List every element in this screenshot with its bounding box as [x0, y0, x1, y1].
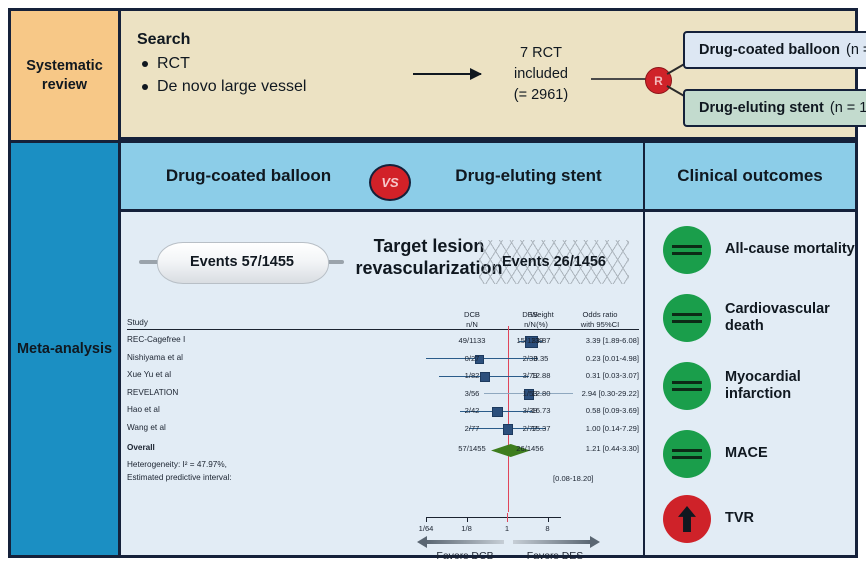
outcome-row: All-cause mortality [663, 226, 855, 274]
up-arrow-icon [663, 495, 711, 543]
clinical-outcomes-header: Clinical outcomes [645, 143, 855, 209]
randomization-line [591, 78, 651, 80]
right-arrow-icon [413, 73, 481, 75]
search-block: Search RCT De novo large vessel [137, 31, 402, 98]
overall-dcb-value: 57/1455 [447, 444, 497, 453]
col-header-des-l1: DES [507, 310, 553, 320]
figure-frame: Systematic review Search RCT De novo lar… [8, 8, 858, 558]
comparison-arms: Drug-coated balloon VS Drug-eluting sten… [121, 143, 645, 209]
axis-tick-label: 1 [505, 524, 509, 533]
outcome-label: Cardiovascular death [725, 301, 855, 336]
axis-tick [507, 513, 508, 522]
heterogeneity-text: Heterogeneity: I² = 47.97%, [127, 460, 227, 469]
effect-value: 0.58 [0.09-3.69] [553, 406, 639, 415]
dcb-value: 2/77 [447, 424, 497, 433]
equals-icon [663, 294, 711, 342]
arm-dcb-name: Drug-coated balloon [699, 42, 840, 58]
arm-drug-eluting-stent: Drug-eluting stent (n = 1485) [683, 89, 866, 127]
forest-plot: Odds ratio with 95%CI Weight (%) DCB n/N… [121, 308, 645, 555]
x-axis [426, 517, 561, 518]
up-arrow-glyph [678, 506, 696, 532]
list-item: RCT [137, 53, 402, 76]
col-header-des: DES n/N [507, 310, 553, 330]
outcome-label: MACE [725, 445, 768, 462]
search-criteria-list: RCT De novo large vessel [137, 53, 402, 98]
dcb-value: 49/1133 [447, 336, 497, 345]
overall-des-value: 26/1456 [505, 444, 555, 453]
clinical-outcomes-panel: All-cause mortality Cardiovascular death… [645, 212, 855, 555]
infographic-root: Systematic review Search RCT De novo lar… [0, 0, 866, 566]
outcome-label: Myocardial infarction [725, 369, 855, 404]
balloon-graphic: Events 57/1455 [139, 238, 344, 286]
systematic-review-body: Search RCT De novo large vessel 7 RCT in… [121, 11, 855, 140]
dcb-value: 3/56 [447, 389, 497, 398]
des-value: 1/53 [505, 389, 555, 398]
axis-tick-label: 8 [545, 524, 549, 533]
meta-analysis-body: Events 57/1455 Target lesion revasculari… [121, 212, 855, 555]
outcome-row: Myocardial infarction [663, 362, 855, 410]
overall-effect-value: 1.21 [0.44-3.30] [553, 444, 639, 453]
equals-icon [663, 362, 711, 410]
included-line-3: (= 2961) [493, 85, 589, 106]
favors-dcb-label: Favors DCB [417, 550, 513, 562]
study-name: Hao et al [127, 405, 160, 414]
list-item: De novo large vessel [137, 76, 402, 99]
equals-icon [663, 226, 711, 274]
col-header-dcb: DCB n/N [449, 310, 495, 330]
col-header-effect-l1: Odds ratio [561, 310, 639, 320]
comparison-header: Drug-coated balloon VS Drug-eluting sten… [121, 140, 855, 212]
outcome-row: TVR [663, 495, 754, 543]
predictive-interval-label: Estimated predictive interval: [127, 473, 232, 482]
des-value: 2/77 [505, 424, 555, 433]
arm-des-name: Drug-eluting stent [699, 100, 824, 116]
favors-dcb-arrow-icon [426, 540, 504, 544]
favors-des-arrow-icon [513, 540, 591, 544]
effect-value: 2.94 [0.30-29.22] [553, 389, 639, 398]
study-name: Wang et al [127, 423, 166, 432]
systematic-review-label: Systematic review [11, 11, 121, 140]
axis-tick-label: 1/8 [461, 524, 472, 533]
col-header-study: Study [127, 318, 148, 327]
study-name: Xue Yu et al [127, 370, 171, 379]
included-studies-text: 7 RCT included (= 2961) [493, 43, 589, 106]
outcome-row: Cardiovascular death [663, 294, 855, 342]
effect-value: 3.39 [1.89-6.08] [553, 336, 639, 345]
search-title: Search [137, 31, 402, 49]
effect-value: 1.00 [0.14-7.29] [553, 424, 639, 433]
study-name: REVELATION [127, 388, 178, 397]
study-name: REC-Cagefree I [127, 335, 185, 344]
des-value: 3/38 [505, 406, 555, 415]
axis-tick-label: 1/64 [419, 524, 434, 533]
arm-drug-coated-balloon: Drug-coated balloon (n = 1476) [683, 31, 866, 69]
arm-dcb-n: (n = 1476) [846, 42, 866, 58]
overall-label: Overall [127, 443, 155, 452]
compare-left-label: Drug-coated balloon [131, 143, 366, 209]
dcb-value: 2/42 [447, 406, 497, 415]
predictive-interval-value: [0.08-18.20] [553, 474, 639, 483]
vs-badge: VS [369, 164, 411, 201]
forest-plot-panel: Events 57/1455 Target lesion revasculari… [121, 212, 645, 555]
des-value: 2/33 [505, 354, 555, 363]
stent-graphic: Events 26/1456 [479, 240, 629, 284]
dcb-value: 1/82 [447, 371, 497, 380]
effect-value: 0.31 [0.03-3.07] [553, 371, 639, 380]
axis-tick [426, 517, 427, 522]
favors-des-label: Favors DES [507, 550, 603, 562]
balloon-events-label: Events 57/1455 [157, 242, 327, 282]
stent-events-label: Events 26/1456 [479, 240, 629, 284]
compare-right-label: Drug-eluting stent [416, 143, 641, 209]
header-rule [127, 329, 639, 330]
axis-tick [548, 517, 549, 522]
outcome-label: TVR [725, 510, 754, 527]
equals-icon [663, 430, 711, 478]
des-value: 3/79 [505, 371, 555, 380]
effect-value: 0.23 [0.01-4.98] [553, 354, 639, 363]
included-line-1: 7 RCT [493, 43, 589, 64]
arm-des-n: (n = 1485) [830, 100, 866, 116]
meta-analysis-label: Meta-analysis [11, 140, 121, 555]
col-header-dcb-l1: DCB [449, 310, 495, 320]
axis-tick [467, 517, 468, 522]
dcb-value: 0/27 [447, 354, 497, 363]
included-line-2: included [493, 64, 589, 85]
des-value: 15/1139 [505, 336, 555, 345]
col-header-effect: Odds ratio with 95%CI [561, 310, 639, 330]
study-name: Nishiyama et al [127, 353, 183, 362]
systematic-review-row: Systematic review Search RCT De novo lar… [11, 11, 855, 140]
outcome-label: All-cause mortality [725, 241, 855, 258]
outcome-row: MACE [663, 430, 768, 478]
